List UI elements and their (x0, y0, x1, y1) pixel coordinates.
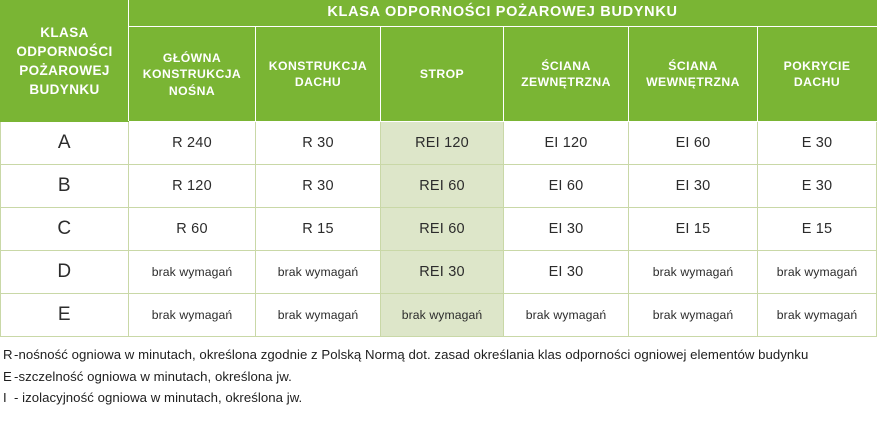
legend-symbol-r: R (3, 344, 14, 365)
legend-note-r: R-nośność ogniowa w minutach, określona … (3, 344, 880, 365)
cell-c-pokrycie-dachu: E 15 (758, 208, 877, 251)
row-header-label: KLASA ODPORNOŚCI POŻAROWEJ BUDYNKU (1, 1, 129, 122)
cell-b-sciana-wewnetrzna: EI 30 (629, 165, 758, 208)
header-row-top: KLASA ODPORNOŚCI POŻAROWEJ BUDYNKU KLASA… (1, 1, 877, 27)
legend-text-r: -nośność ogniowa w minutach, określona z… (14, 347, 808, 362)
column-header-strop: STROP (381, 27, 504, 122)
row-class-label: C (1, 208, 129, 251)
row-class-label: D (1, 251, 129, 294)
column-header-glowna-konstrukcja-nosna: GŁÓWNA KONSTRUKCJA NOŚNA (129, 27, 256, 122)
cell-c-strop: REI 60 (381, 208, 504, 251)
cell-b-konstrukcja-dachu: R 30 (256, 165, 381, 208)
cell-a-sciana-wewnetrzna: EI 60 (629, 122, 758, 165)
cell-e-pokrycie-dachu: brak wymagań (758, 294, 877, 337)
legend-notes: R-nośność ogniowa w minutach, określona … (0, 337, 880, 408)
column-header-sciana-zewnetrzna: ŚCIANA ZEWNĘTRZNA (504, 27, 629, 122)
cell-b-pokrycie-dachu: E 30 (758, 165, 877, 208)
cell-d-pokrycie-dachu: brak wymagań (758, 251, 877, 294)
fire-resistance-table: KLASA ODPORNOŚCI POŻAROWEJ BUDYNKU KLASA… (0, 0, 877, 337)
cell-a-strop: REI 120 (381, 122, 504, 165)
legend-note-e: E-szczelność ogniowa w minutach, określo… (3, 366, 880, 387)
cell-a-glowna-konstrukcja-nosna: R 240 (129, 122, 256, 165)
legend-text-e: -szczelność ogniowa w minutach, określon… (14, 369, 292, 384)
cell-d-strop: REI 30 (381, 251, 504, 294)
cell-e-glowna-konstrukcja-nosna: brak wymagań (129, 294, 256, 337)
legend-symbol-e: E (3, 366, 14, 387)
row-class-label: A (1, 122, 129, 165)
cell-d-konstrukcja-dachu: brak wymagań (256, 251, 381, 294)
cell-b-sciana-zewnetrzna: EI 60 (504, 165, 629, 208)
row-class-label: E (1, 294, 129, 337)
column-header-sciana-wewnetrzna: ŚCIANA WEWNĘTRZNA (629, 27, 758, 122)
cell-d-sciana-wewnetrzna: brak wymagań (629, 251, 758, 294)
table-row: B R 120 R 30 REI 60 EI 60 EI 30 E 30 (1, 165, 877, 208)
cell-b-strop: REI 60 (381, 165, 504, 208)
cell-c-glowna-konstrukcja-nosna: R 60 (129, 208, 256, 251)
column-header-pokrycie-dachu: POKRYCIE DACHU (758, 27, 877, 122)
legend-text-i: - izolacyjność ogniowa w minutach, okreś… (14, 390, 302, 405)
table-row: E brak wymagań brak wymagań brak wymagań… (1, 294, 877, 337)
row-class-label: B (1, 165, 129, 208)
cell-b-glowna-konstrukcja-nosna: R 120 (129, 165, 256, 208)
header-row-columns: GŁÓWNA KONSTRUKCJA NOŚNA KONSTRUKCJA DAC… (1, 27, 877, 122)
cell-e-sciana-zewnetrzna: brak wymagań (504, 294, 629, 337)
cell-c-konstrukcja-dachu: R 15 (256, 208, 381, 251)
cell-d-glowna-konstrukcja-nosna: brak wymagań (129, 251, 256, 294)
fire-resistance-class-sheet: KLASA ODPORNOŚCI POŻAROWEJ BUDYNKU KLASA… (0, 0, 880, 443)
cell-c-sciana-zewnetrzna: EI 30 (504, 208, 629, 251)
column-header-konstrukcja-dachu: KONSTRUKCJA DACHU (256, 27, 381, 122)
cell-e-strop: brak wymagań (381, 294, 504, 337)
legend-symbol-i: I (3, 387, 14, 408)
cell-a-sciana-zewnetrzna: EI 120 (504, 122, 629, 165)
cell-e-konstrukcja-dachu: brak wymagań (256, 294, 381, 337)
table-row: D brak wymagań brak wymagań REI 30 EI 30… (1, 251, 877, 294)
table-row: A R 240 R 30 REI 120 EI 120 EI 60 E 30 (1, 122, 877, 165)
legend-note-i: I- izolacyjność ogniowa w minutach, okre… (3, 387, 880, 408)
cell-a-pokrycie-dachu: E 30 (758, 122, 877, 165)
cell-a-konstrukcja-dachu: R 30 (256, 122, 381, 165)
cell-e-sciana-wewnetrzna: brak wymagań (629, 294, 758, 337)
table-body: A R 240 R 30 REI 120 EI 120 EI 60 E 30 B… (1, 122, 877, 337)
cell-d-sciana-zewnetrzna: EI 30 (504, 251, 629, 294)
cell-c-sciana-wewnetrzna: EI 15 (629, 208, 758, 251)
column-group-title: KLASA ODPORNOŚCI POŻAROWEJ BUDYNKU (129, 1, 877, 27)
table-row: C R 60 R 15 REI 60 EI 30 EI 15 E 15 (1, 208, 877, 251)
table-header: KLASA ODPORNOŚCI POŻAROWEJ BUDYNKU KLASA… (1, 1, 877, 122)
